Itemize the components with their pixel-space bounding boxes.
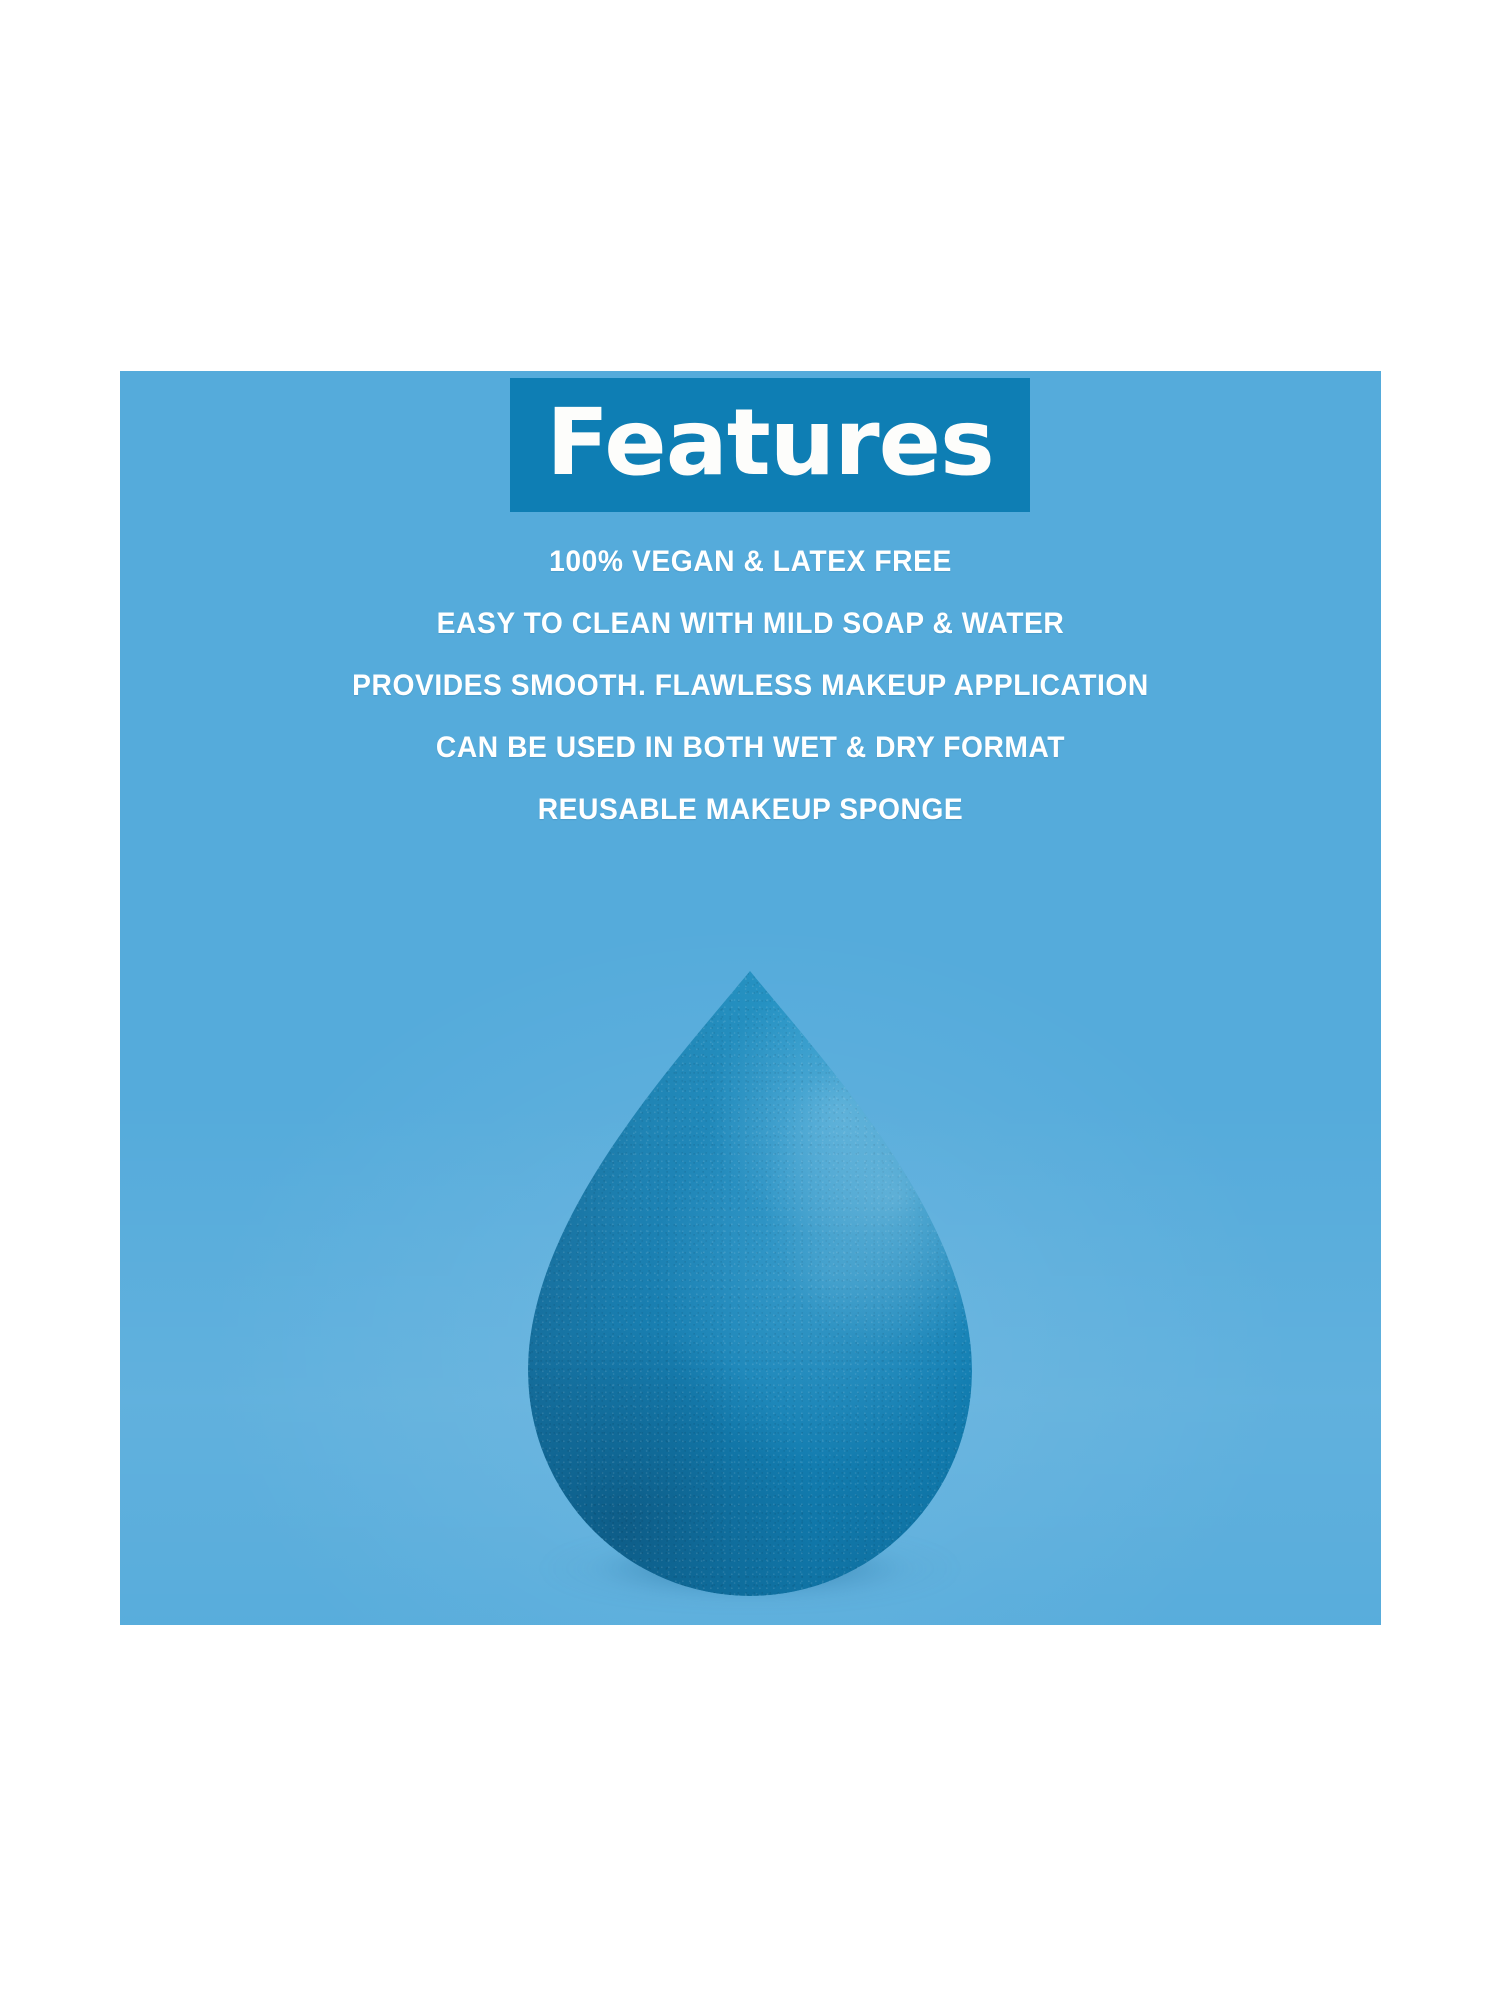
feature-item-reusable-sponge: REUSABLE MAKEUP SPONGE <box>158 795 1343 825</box>
feature-item-smooth-application: PROVIDES SMOOTH. FLAWLESS MAKEUP APPLICA… <box>158 671 1343 701</box>
sponge-rim-highlight <box>528 971 972 1596</box>
sponge-foam-texture <box>528 971 972 1596</box>
feature-item-wet-dry-format: CAN BE USED IN BOTH WET & DRY FORMAT <box>158 733 1343 763</box>
page-title: Features <box>546 397 994 489</box>
features-panel: Features 100% VEGAN & LATEX FREE EASY TO… <box>120 371 1381 1625</box>
product-feature-page: Features 100% VEGAN & LATEX FREE EASY TO… <box>0 0 1500 2000</box>
feature-item-vegan-latex-free: 100% VEGAN & LATEX FREE <box>158 547 1343 577</box>
sponge-body <box>528 971 972 1596</box>
feature-list: 100% VEGAN & LATEX FREE EASY TO CLEAN WI… <box>120 547 1381 825</box>
features-title-box: Features <box>510 378 1030 512</box>
feature-item-easy-to-clean: EASY TO CLEAN WITH MILD SOAP & WATER <box>158 609 1343 639</box>
product-image-makeup-sponge <box>500 971 1000 1606</box>
